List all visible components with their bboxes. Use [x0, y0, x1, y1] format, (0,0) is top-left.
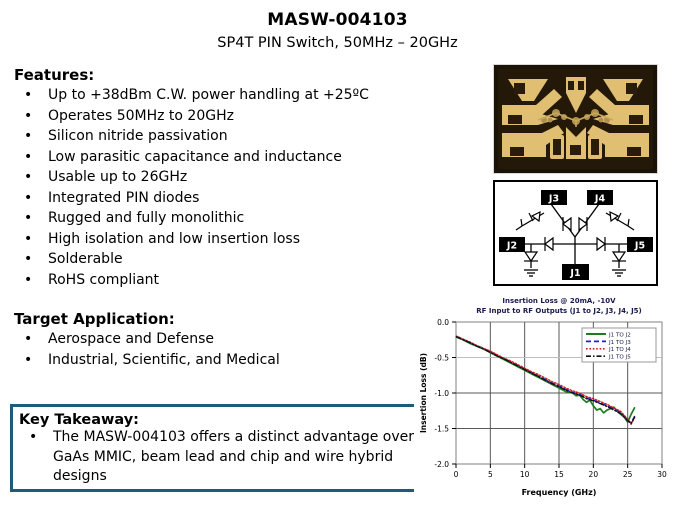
feature-list-item: •Up to +38dBm C.W. power handling at +25…	[14, 85, 464, 106]
feature-list-item-label: Rugged and fully monolithic	[48, 210, 244, 226]
content-column: Features: •Up to +38dBm C.W. power handl…	[14, 66, 464, 370]
feature-list-item-label: Up to +38dBm C.W. power handling at +25º…	[48, 87, 369, 103]
chart-title: Insertion Loss @ 20mA, -10V	[502, 297, 616, 305]
feature-list-item: •Solderable	[14, 249, 464, 270]
feature-list-item-label: High isolation and low insertion loss	[48, 231, 300, 247]
schematic-graphic: J3 J4 J2 J5 J1	[495, 182, 656, 284]
features-heading: Features:	[14, 66, 464, 84]
feature-list-item-label: RoHS compliant	[48, 272, 159, 288]
key-takeaway-heading: Key Takeaway:	[19, 412, 415, 428]
key-takeaway-list: •The MASW-004103 offers a distinct advan…	[19, 428, 415, 487]
bullet-marker: •	[24, 188, 32, 209]
insertion-loss-chart-graphic: Insertion Loss @ 20mA, -10VRF Input to R…	[414, 292, 672, 504]
chart-xaxis-label: Frequency (GHz)	[522, 488, 597, 497]
chart-subtitle: RF Input to RF Outputs (J1 to J2, J3, J4…	[476, 307, 642, 315]
chart-xtick-label: 0	[454, 470, 459, 479]
chart-ytick-label: -2.0	[434, 460, 449, 469]
chart-legend-label: J1 TO J5	[608, 355, 631, 361]
chart-xtick-label: 10	[520, 470, 530, 479]
bullet-marker: •	[24, 350, 32, 371]
target-application-heading: Target Application:	[14, 310, 464, 328]
target-application-section: Target Application: •Aerospace and Defen…	[14, 310, 464, 370]
slide: MASW-004103 SP4T PIN Switch, 50MHz – 20G…	[0, 0, 675, 506]
feature-list-item-label: Silicon nitride passivation	[48, 128, 228, 144]
bullet-marker: •	[24, 106, 32, 127]
chart-legend-label: J1 TO J2	[608, 332, 631, 338]
mmic-die-photo	[493, 64, 658, 174]
page-subtitle: SP4T PIN Switch, 50MHz – 20GHz	[0, 34, 675, 52]
chart-legend-label: J1 TO J4	[608, 347, 631, 353]
features-list: •Up to +38dBm C.W. power handling at +25…	[14, 85, 464, 290]
key-takeaway-item: •The MASW-004103 offers a distinct advan…	[19, 428, 415, 487]
feature-list-item-label: Low parasitic capacitance and inductance	[48, 149, 342, 165]
page-title: MASW-004103	[0, 10, 675, 31]
chart-ytick-label: -0.5	[434, 353, 449, 362]
feature-list-item-label: Usable up to 26GHz	[48, 169, 187, 185]
chart-ytick-label: -1.5	[434, 424, 449, 433]
chart-xtick-label: 30	[657, 470, 667, 479]
chart-xtick-label: 25	[623, 470, 633, 479]
bullet-marker: •	[24, 208, 32, 229]
port-label-j3: J3	[548, 194, 559, 205]
bullet-marker: •	[24, 126, 32, 147]
feature-list-item: •RoHS compliant	[14, 270, 464, 291]
feature-list-item: •Silicon nitride passivation	[14, 126, 464, 147]
key-takeaway-box: Key Takeaway: •The MASW-004103 offers a …	[10, 404, 424, 492]
port-label-j1: J1	[569, 268, 580, 279]
bullet-marker: •	[24, 249, 32, 270]
target-list-item: •Industrial, Scientific, and Medical	[14, 350, 464, 371]
bullet-marker: •	[24, 147, 32, 168]
chart-xtick-label: 15	[554, 470, 564, 479]
feature-list-item-label: Integrated PIN diodes	[48, 190, 199, 206]
bullet-marker: •	[24, 329, 32, 350]
feature-list-item: •Usable up to 26GHz	[14, 167, 464, 188]
bullet-marker: •	[24, 270, 32, 291]
header: MASW-004103 SP4T PIN Switch, 50MHz – 20G…	[0, 10, 675, 52]
feature-list-item: •Operates 50MHz to 20GHz	[14, 106, 464, 127]
port-label-j2: J2	[506, 241, 517, 252]
feature-list-item: •Rugged and fully monolithic	[14, 208, 464, 229]
bullet-marker: •	[29, 428, 37, 448]
target-list-item-label: Aerospace and Defense	[48, 331, 214, 347]
schematic-diagram: J3 J4 J2 J5 J1	[493, 180, 658, 286]
feature-list-item: •Low parasitic capacitance and inductanc…	[14, 147, 464, 168]
chart-xtick-label: 5	[488, 470, 493, 479]
insertion-loss-chart: Insertion Loss @ 20mA, -10VRF Input to R…	[414, 292, 672, 504]
target-application-list: •Aerospace and Defense•Industrial, Scien…	[14, 329, 464, 370]
target-list-item-label: Industrial, Scientific, and Medical	[48, 352, 280, 368]
chart-ytick-label: 0.0	[437, 318, 449, 327]
chart-xtick-label: 20	[589, 470, 599, 479]
chart-yaxis-label: Insertion Loss (dB)	[419, 353, 428, 433]
port-label-j5: J5	[634, 241, 645, 252]
chart-ytick-label: -1.0	[434, 389, 449, 398]
die-photo-graphic	[494, 65, 657, 173]
bullet-marker: •	[24, 167, 32, 188]
port-label-j4: J4	[594, 194, 606, 205]
chart-legend-label: J1 TO J3	[608, 340, 631, 346]
bullet-marker: •	[24, 85, 32, 106]
feature-list-item-label: Operates 50MHz to 20GHz	[48, 108, 234, 124]
feature-list-item: •High isolation and low insertion loss	[14, 229, 464, 250]
target-list-item: •Aerospace and Defense	[14, 329, 464, 350]
feature-list-item: •Integrated PIN diodes	[14, 188, 464, 209]
key-takeaway-item-label: The MASW-004103 offers a distinct advant…	[53, 429, 414, 484]
feature-list-item-label: Solderable	[48, 251, 123, 267]
bullet-marker: •	[24, 229, 32, 250]
